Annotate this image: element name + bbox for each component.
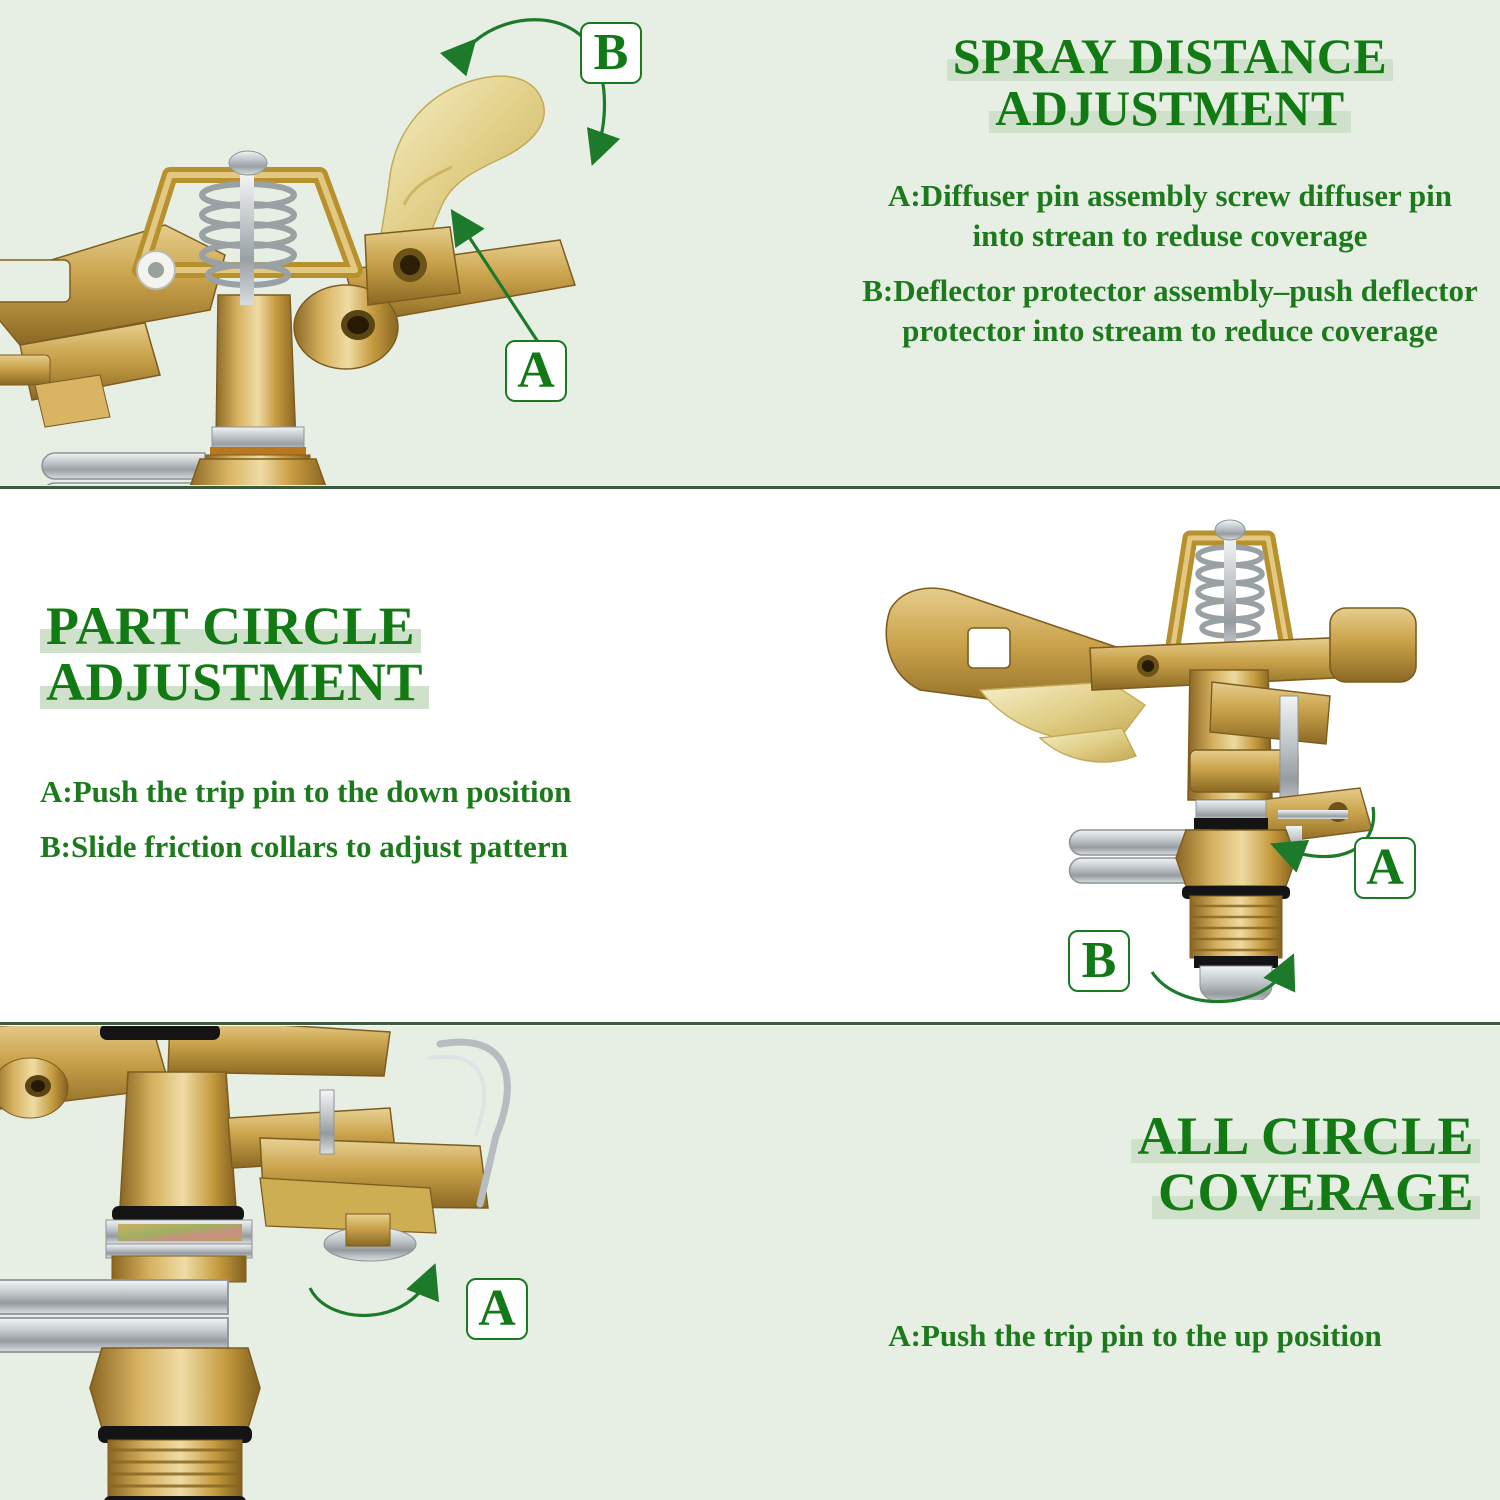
- callout-a-part-circle: A: [1354, 837, 1416, 899]
- panel-part-title: PART CIRCLE ADJUSTMENT: [40, 598, 680, 710]
- panel-all-title: ALL CIRCLE COVERAGE: [790, 1108, 1480, 1220]
- panel-spray-item-b: B:Deflector protector assembly–push defl…: [860, 271, 1480, 352]
- infographic-sheet: B A SPRAY DISTANCE ADJUSTMENT A:Diffuser…: [0, 0, 1500, 1500]
- divider-2: [0, 1022, 1500, 1025]
- panel-part-circle: PART CIRCLE ADJUSTMENT A:Push the trip p…: [0, 490, 1500, 1022]
- sprinkler-image-part-circle: [860, 500, 1480, 1000]
- divider-1: [0, 486, 1500, 489]
- panel-part-title-line-1: PART CIRCLE: [40, 598, 421, 654]
- panel-part-body: A:Push the trip pin to the down position…: [40, 772, 680, 867]
- panel-all-item-a: A:Push the trip pin to the up position: [790, 1316, 1480, 1356]
- panel-part-item-a: A:Push the trip pin to the down position: [40, 772, 680, 812]
- panel-part-title-line-2: ADJUSTMENT: [40, 654, 429, 710]
- panel-all-body: A:Push the trip pin to the up position: [790, 1316, 1480, 1356]
- panel-all-title-line-1: ALL CIRCLE: [1131, 1108, 1480, 1164]
- panel-spray-body: A:Diffuser pin assembly screw diffuser p…: [860, 176, 1480, 351]
- panel-spray-title-line-2: ADJUSTMENT: [989, 82, 1350, 134]
- panel-spray-title: SPRAY DISTANCE ADJUSTMENT: [860, 30, 1480, 134]
- callout-a-all-circle: A: [466, 1278, 528, 1340]
- panel-spray-distance: B A SPRAY DISTANCE ADJUSTMENT A:Diffuser…: [0, 0, 1500, 486]
- callout-b-part-circle: B: [1068, 930, 1130, 992]
- panel-all-circle: A ALL CIRCLE COVERAGE A:Push the trip pi…: [0, 1026, 1500, 1500]
- callout-a-spray: A: [505, 340, 567, 402]
- panel-part-item-b: B:Slide friction collars to adjust patte…: [40, 827, 680, 867]
- panel-spray-item-a: A:Diffuser pin assembly screw diffuser p…: [860, 176, 1480, 257]
- sprinkler-image-all-circle: [0, 1026, 580, 1500]
- panel-spray-title-line-1: SPRAY DISTANCE: [947, 30, 1393, 82]
- panel-all-title-line-2: COVERAGE: [1152, 1164, 1480, 1220]
- sprinkler-head-image-spray: [0, 55, 580, 485]
- callout-b-spray: B: [580, 22, 642, 84]
